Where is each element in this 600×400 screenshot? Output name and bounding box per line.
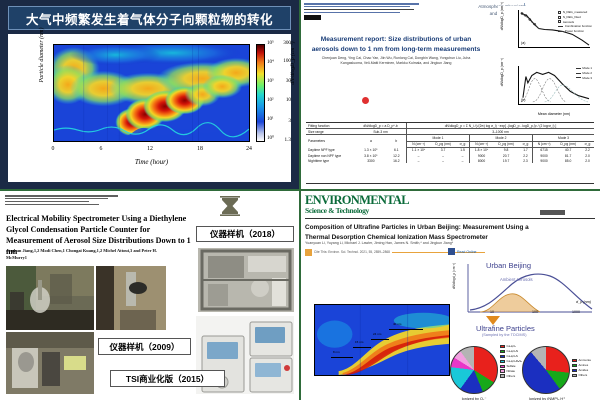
acp-figure-panel-b: dN/dlogD_p (cm⁻³) (b) Mean diameter (nm)…	[498, 62, 594, 117]
cell: –	[407, 158, 431, 163]
annotation-label: 15 nm	[355, 340, 363, 344]
x-axis-label: Mean diameter (nm)	[518, 112, 590, 116]
pie-chart-o2-ionized	[450, 346, 498, 394]
horizontal-divider	[0, 189, 600, 191]
x-tick: 6	[94, 146, 108, 152]
cell: 9000	[532, 158, 555, 163]
colorbar-label: dN/dlogD_p (cm⁻³)	[290, 28, 296, 98]
acp-header-block	[304, 3, 424, 20]
paper-title: Composition of Ultrafine Particles in Ur…	[305, 223, 545, 243]
cell-a: 3300	[355, 158, 387, 163]
legend-marker-icon	[576, 77, 581, 78]
colorbar	[256, 44, 265, 142]
fitting-parameters-table: Fitting function dN/dlogD_p = a D_p^-b d…	[306, 122, 594, 184]
col-b: b	[387, 135, 407, 147]
cell: 85.0	[555, 158, 581, 163]
legend-marker-icon	[558, 20, 561, 23]
annotation-label: 8 nm	[333, 350, 340, 354]
slide-title: 大气中频繁发生着气体分子向颗粒物的转化	[8, 6, 291, 30]
acp-figure-panel-a: dN/dlogD_p (cm⁻³) (a) N_DEG_measured N_D…	[498, 6, 594, 60]
x-tick: 12	[143, 146, 157, 152]
journal-logo-main: ENVIRONMENTAL	[305, 194, 425, 207]
paper-authors: Chenjuan Deng, Ying Cai, Chao Yan, Jiin …	[312, 56, 480, 67]
paper-title: Measurement report: Size distributions o…	[310, 35, 482, 55]
cell: 2.3	[519, 158, 532, 163]
article-badge	[540, 210, 565, 215]
legend-swatch	[572, 359, 577, 362]
colorbar-tick: 10⁵	[267, 41, 274, 46]
legend-swatch	[572, 364, 577, 367]
cite-icon	[305, 249, 312, 256]
size-distribution-heatmap: 8 nm 15 nm 24 nm 40 nm	[314, 304, 450, 376]
x-tick: 1000	[572, 310, 580, 314]
legend-label: Others	[507, 374, 516, 379]
colorbar-tick: 10¹	[267, 117, 274, 122]
cell: –	[430, 158, 456, 163]
open-access-badge	[304, 15, 321, 20]
caption-prototype-2018: 仪器样机（2018）	[196, 226, 294, 242]
paper-authors: Jingkun Jiang,1,2 Modi Chen,1 Chongai Ku…	[6, 248, 166, 261]
read-online-label: Read Online	[457, 250, 476, 254]
vertical-divider	[299, 0, 301, 400]
aaar-logo-icon	[219, 196, 241, 216]
pie-legend-right: Ammonia Amines Amides Others	[572, 358, 591, 378]
pie-caption-right: Ionized by (NMP)ₓ H⁺	[516, 396, 578, 400]
ufp-title: Ultrafine Particles	[476, 324, 535, 333]
panel-label: (a)	[521, 41, 525, 45]
heatmap-canvas	[53, 44, 250, 142]
read-online-link[interactable]: Read Online	[448, 248, 476, 255]
colorbar-tick: 10²	[267, 98, 274, 103]
x-tick: 10	[490, 310, 494, 314]
panel-label: (b)	[521, 98, 525, 102]
growth-step	[353, 347, 371, 348]
cell: –	[456, 158, 469, 163]
x-tick: 24	[242, 146, 256, 152]
x-tick: 0	[46, 146, 60, 152]
legend-marker-icon	[558, 26, 563, 27]
legend-swatch	[500, 345, 505, 348]
legend-marker-icon	[576, 73, 581, 74]
colorbar-tick: 10⁴	[267, 60, 274, 65]
caption-commercial-2015: TSI商业化版（2015）	[110, 370, 225, 387]
toc-graphic: 8 nm 15 nm 24 nm 40 nm Urban Beijing Amb…	[304, 260, 596, 396]
legend-swatch	[500, 369, 505, 372]
paper-authors: Yuanyuan Li, Yuyang Li, Michael J. Lawle…	[305, 241, 535, 245]
row-header: Parameters	[306, 135, 355, 147]
panel-top-left: 大气中频繁发生着气体分子向颗粒物的转化 300 100 30 10 3 1.3 …	[0, 0, 299, 189]
table-row: Nighttime type 3300 16.2 – – – 8000 19.7…	[306, 158, 594, 163]
colorbar-tick: 10⁰	[267, 135, 274, 141]
legend-marker-icon	[576, 68, 581, 69]
legend-label: Mode 3	[582, 76, 592, 81]
est-journal-logo: ENVIRONMENTAL Science & Technology	[305, 194, 425, 215]
y-axis-label: dN/dlogD_p (cm⁻³)	[500, 52, 504, 92]
legend: Mode 1 Mode 2 Mode 3	[576, 66, 592, 80]
lab-prototype-photo-2009-b	[96, 266, 166, 330]
legend-swatch	[500, 360, 505, 363]
panel-top-right-acp-paper: Atmospheric Chemistry and Physics E Meas…	[300, 0, 600, 189]
divider	[305, 218, 595, 219]
legend-label: Others	[579, 373, 588, 378]
cell-b: 16.2	[387, 158, 407, 163]
cite-this-label: Cite This: Environ. Sci. Technol. 2021, …	[314, 250, 390, 254]
banana-plot-figure: 300 100 30 10 3 1.3 Particle diameter (n…	[8, 34, 291, 182]
annotation-label: 40 nm	[393, 322, 401, 326]
bullet-marker-icon	[362, 97, 369, 104]
cell: 19.7	[493, 158, 519, 163]
legend-swatch	[572, 374, 577, 377]
ufp-subtitle: (Sampled by the TDCIMS)	[482, 333, 526, 337]
pie-caption-left: Ionized by O₂⁻	[444, 396, 504, 400]
x-axis-label: d_p (nm)	[576, 300, 591, 304]
y-axis-label: Particle diameter (nm)	[39, 15, 45, 95]
x-tick: 18	[193, 146, 207, 152]
legend-marker-icon	[558, 31, 563, 32]
pie-legend-left: CₓHᵧOᵤ CₓHᵧOᵤN CₓHᵧOᵤS CₓHᵧOᵤRₙSₓ Sulfat…	[500, 344, 522, 379]
x-axis-label: Time (hour)	[53, 158, 250, 166]
colorbar-tick: 10³	[267, 79, 274, 84]
lab-prototype-photo-2009-a	[6, 266, 94, 330]
rack-instrument-photo-2018	[198, 248, 294, 312]
ambient-distribution-chart	[454, 262, 594, 324]
growth-step	[371, 339, 389, 340]
heatmap-image	[54, 45, 249, 142]
annotation-label: 24 nm	[373, 332, 381, 336]
legend-marker-icon	[558, 16, 561, 19]
legend-swatch	[500, 365, 505, 368]
growth-step	[331, 357, 353, 358]
legend-swatch	[500, 355, 505, 358]
growth-step	[389, 329, 423, 330]
cell: 8000	[469, 158, 493, 163]
x-tick: 100	[532, 310, 538, 314]
legend-label: Power function	[565, 29, 584, 34]
row-label: Nighttime type	[306, 158, 355, 163]
slide-canvas: 大气中频繁发生着气体分子向颗粒物的转化 300 100 30 10 3 1.3 …	[0, 0, 600, 400]
ambient-series-label: Ambient Aerosols	[500, 277, 533, 282]
legend: N_DEG_measured N_DEG_fitted Aerosols Com…	[558, 10, 592, 34]
pie-chart-nmp-ionized	[522, 346, 570, 394]
journal-header-block	[5, 195, 125, 207]
lab-prototype-photo-2009-c	[6, 332, 94, 394]
col-a: a	[355, 135, 387, 147]
caption-prototype-2009: 仪器样机（2009）	[98, 338, 191, 355]
legend-swatch	[500, 374, 505, 377]
legend-marker-icon	[558, 11, 561, 14]
read-online-icon	[448, 248, 455, 255]
y-axis-label: dN/dlogD_p (cm⁻³)	[500, 0, 504, 36]
legend-swatch	[500, 350, 505, 353]
legend-swatch	[572, 369, 577, 372]
y-axis-label: dN/dlogd_p (cm⁻³)	[452, 258, 456, 294]
panel-bottom-left-ast-paper: Electrical Mobility Spectrometer Using a…	[0, 190, 299, 400]
panel-bottom-right-est-paper: ENVIRONMENTAL Science & Technology Compo…	[300, 190, 600, 400]
cell: 2.0	[581, 158, 594, 163]
